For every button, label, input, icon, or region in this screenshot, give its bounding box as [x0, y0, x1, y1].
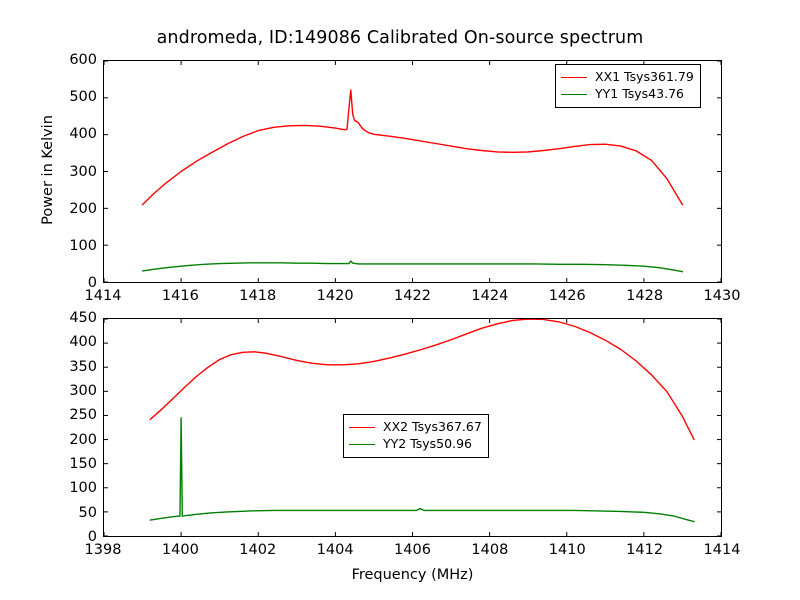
- x-tick-label: 1404: [317, 542, 354, 558]
- y-tick-label: 400: [47, 334, 97, 350]
- x-tick-label: 1412: [626, 542, 663, 558]
- legend-line-swatch-yy2: [349, 444, 375, 445]
- series-line: [143, 261, 683, 272]
- x-tick-label: 1414: [704, 542, 741, 558]
- y-tick-label: 150: [47, 456, 97, 472]
- legend-line-swatch-xx2: [349, 427, 375, 428]
- legend-item: XX2 Tsys367.67: [349, 419, 482, 436]
- x-tick-label: 1428: [626, 288, 663, 304]
- x-tick-label: 1424: [471, 288, 508, 304]
- x-tick-label: 1408: [471, 542, 508, 558]
- figure-canvas: andromeda, ID:149086 Calibrated On-sourc…: [0, 0, 800, 600]
- x-tick-label: 1414: [85, 288, 122, 304]
- x-tick-label: 1430: [704, 288, 741, 304]
- y-tick-label: 100: [47, 480, 97, 496]
- x-tick-label: 1422: [394, 288, 431, 304]
- x-tick-label: 1420: [317, 288, 354, 304]
- x-tick-label: 1398: [85, 542, 122, 558]
- x-tick-label: 1400: [162, 542, 199, 558]
- y-tick-label: 50: [47, 505, 97, 521]
- legend-line-swatch-xx1: [561, 77, 587, 78]
- legend-item: XX1 Tsys361.79: [561, 69, 694, 86]
- x-tick-label: 1418: [239, 288, 276, 304]
- legend-line-swatch-yy1: [561, 94, 587, 95]
- legend-label-yy2: YY2 Tsys50.96: [383, 438, 472, 451]
- x-tick-label: 1410: [549, 542, 586, 558]
- figure-title: andromeda, ID:149086 Calibrated On-sourc…: [0, 28, 800, 48]
- legend-label-xx2: XX2 Tsys367.67: [383, 421, 482, 434]
- legend-label-xx1: XX1 Tsys361.79: [595, 71, 694, 84]
- bottom-panel-x-axis-label: Frequency (MHz): [103, 567, 722, 583]
- bottom-panel-legend: XX2 Tsys367.67 YY2 Tsys50.96: [343, 414, 489, 458]
- y-tick-label: 600: [47, 52, 97, 68]
- y-tick-label: 200: [47, 432, 97, 448]
- x-tick-label: 1416: [162, 288, 199, 304]
- y-tick-label: 450: [47, 310, 97, 326]
- y-tick-label: 350: [47, 359, 97, 375]
- x-tick-label: 1426: [549, 288, 586, 304]
- legend-label-yy1: YY1 Tsys43.76: [595, 88, 684, 101]
- legend-item: YY1 Tsys43.76: [561, 86, 694, 103]
- legend-item: YY2 Tsys50.96: [349, 436, 482, 453]
- y-tick-label: 300: [47, 383, 97, 399]
- x-tick-label: 1406: [394, 542, 431, 558]
- top-panel-legend: XX1 Tsys361.79 YY1 Tsys43.76: [555, 64, 701, 108]
- top-panel-y-axis-label: Power in Kelvin: [40, 70, 56, 270]
- x-tick-label: 1402: [239, 542, 276, 558]
- y-tick-label: 250: [47, 407, 97, 423]
